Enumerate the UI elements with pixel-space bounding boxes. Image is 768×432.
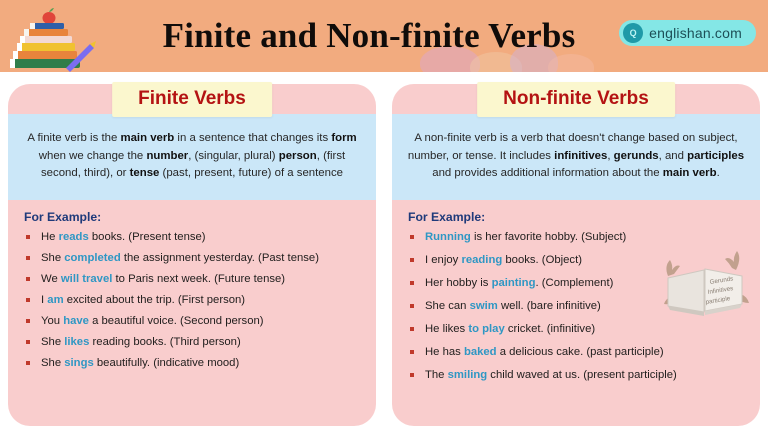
example-text: I enjoy reading books. (Object) [425,252,582,268]
nonfinite-examples-heading: For Example: [408,210,750,224]
example-text: The smiling child waved at us. (present … [425,367,677,383]
example-text: We will travel to Paris next week. (Futu… [41,271,285,287]
highlighted-verb: swim [470,300,498,312]
example-text: He likes to play cricket. (infinitive) [425,321,595,337]
finite-examples-heading: For Example: [24,210,366,224]
brand-label: englishan.com [649,25,742,41]
example-item: He has baked a delicious cake. (past par… [408,342,750,362]
highlighted-verb: baked [464,346,497,358]
example-item: She can swim well. (bare infinitive) [408,296,750,316]
example-text: I am excited about the trip. (First pers… [41,292,245,308]
example-item: She likes reading books. (Third person) [24,332,366,352]
example-text: She can swim well. (bare infinitive) [425,298,601,314]
nonfinite-verbs-title: Non-finite Verbs [477,82,675,117]
highlighted-verb: have [63,315,89,327]
example-text: She sings beautifully. (indicative mood) [41,355,239,371]
finite-verbs-definition: A finite verb is the main verb in a sent… [8,114,376,200]
example-item: He reads books. (Present tense) [24,227,366,247]
example-text: He reads books. (Present tense) [41,229,206,245]
example-item: She completed the assignment yesterday. … [24,248,366,268]
englishan-logo-icon: Q [623,23,643,43]
highlighted-verb: sings [64,357,94,369]
finite-verbs-card: Finite Verbs A finite verb is the main v… [8,84,376,426]
finite-definition-text: A finite verb is the main verb in a sent… [22,130,362,183]
example-item: We will travel to Paris next week. (Futu… [24,269,366,289]
nonfinite-verbs-definition: A non-finite verb is a verb that doesn't… [392,114,760,200]
example-item: She sings beautifully. (indicative mood) [24,353,366,373]
nonfinite-definition-text: A non-finite verb is a verb that doesn't… [406,130,746,183]
nonfinite-verbs-card: Non-finite Verbs A non-finite verb is a … [392,84,760,426]
finite-examples-list: He reads books. (Present tense)She compl… [24,227,366,373]
example-text: You have a beautiful voice. (Second pers… [41,313,264,329]
highlighted-verb: likes [64,336,89,348]
example-item: I am excited about the trip. (First pers… [24,290,366,310]
highlighted-verb: will travel [61,273,113,285]
highlighted-verb: smiling [448,369,488,381]
highlighted-verb: reading [461,254,502,266]
example-item: The smiling child waved at us. (present … [408,365,750,385]
highlighted-verb: painting [492,277,536,289]
example-item: You have a beautiful voice. (Second pers… [24,311,366,331]
example-text: She completed the assignment yesterday. … [41,250,319,266]
page-header: Finite and Non-finite Verbs Q englishan.… [0,0,768,72]
highlighted-verb: completed [64,252,121,264]
highlighted-verb: am [47,294,63,306]
finite-verbs-title: Finite Verbs [112,82,272,117]
panels-container: Finite Verbs A finite verb is the main v… [0,72,768,432]
example-text: She likes reading books. (Third person) [41,334,241,350]
example-item: Her hobby is painting. (Complement) [408,273,750,293]
highlighted-verb: reads [59,231,89,243]
finite-examples-section: For Example: He reads books. (Present te… [8,200,376,382]
example-text: Her hobby is painting. (Complement) [425,275,613,291]
nonfinite-examples-list: Running is her favorite hobby. (Subject)… [408,227,750,385]
example-item: He likes to play cricket. (infinitive) [408,319,750,339]
highlighted-verb: Running [425,231,471,243]
example-text: Running is her favorite hobby. (Subject) [425,229,626,245]
highlighted-verb: to play [468,323,504,335]
example-item: Running is her favorite hobby. (Subject) [408,227,750,247]
example-item: I enjoy reading books. (Object) [408,250,750,270]
brand-badge[interactable]: Q englishan.com [619,20,756,46]
nonfinite-examples-section: For Example: Running is her favorite hob… [392,200,760,396]
example-text: He has baked a delicious cake. (past par… [425,344,664,360]
